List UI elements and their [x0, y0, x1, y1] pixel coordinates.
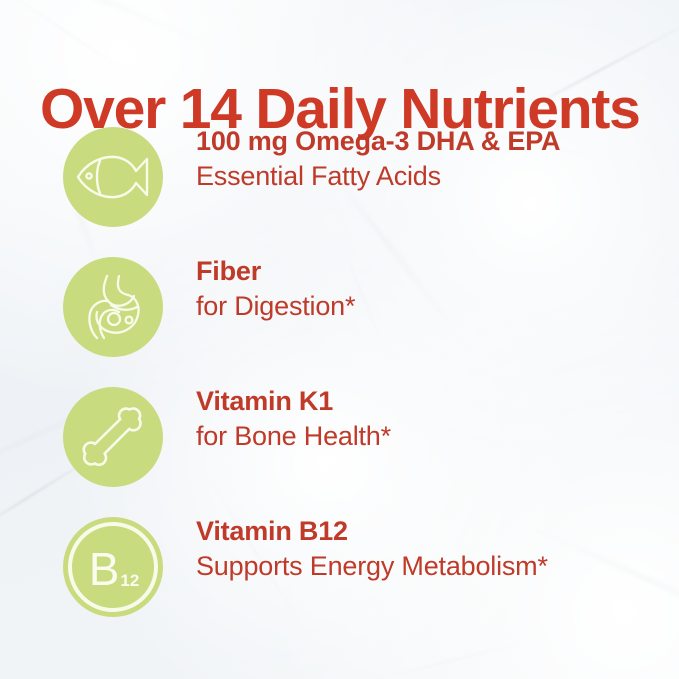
list-item: B 12 Vitamin B12 Supports Energy Metabol…: [0, 517, 679, 647]
list-item-title: Vitamin K1: [196, 384, 666, 419]
list-item-text: Fiber for Digestion*: [196, 254, 666, 323]
list-item-subtitle: Essential Fatty Acids: [196, 159, 666, 194]
list-item: Fiber for Digestion*: [0, 257, 679, 387]
nutrient-benefits-poster: Over 14 Daily Nutrients 100 mg Omega-3 D…: [0, 0, 679, 679]
stomach-icon-badge: [63, 257, 163, 357]
list-item-subtitle: Supports Energy Metabolism*: [196, 549, 666, 584]
bone-icon-badge: [63, 387, 163, 487]
bone-icon: [77, 401, 149, 473]
fish-icon-badge: [63, 127, 163, 227]
list-item-title: Vitamin B12: [196, 514, 666, 549]
list-item-text: Vitamin K1 for Bone Health*: [196, 384, 666, 453]
list-item-title: Fiber: [196, 254, 666, 289]
list-item-title: 100 mg Omega-3 DHA & EPA: [196, 124, 666, 159]
list-item: Vitamin K1 for Bone Health*: [0, 387, 679, 517]
list-item-text: Vitamin B12 Supports Energy Metabolism*: [196, 514, 666, 583]
nutrient-list: 100 mg Omega-3 DHA & EPA Essential Fatty…: [0, 127, 679, 647]
list-item-subtitle: for Bone Health*: [196, 419, 666, 454]
fish-icon: [74, 149, 152, 205]
stomach-icon: [78, 272, 148, 342]
list-item: 100 mg Omega-3 DHA & EPA Essential Fatty…: [0, 127, 679, 257]
vitamin-b12-icon: B 12: [88, 544, 139, 590]
b12-glyph: B 12: [89, 546, 140, 592]
b12-subscript: 12: [120, 572, 139, 589]
vitamin-b12-icon-badge: B 12: [63, 517, 163, 617]
list-item-text: 100 mg Omega-3 DHA & EPA Essential Fatty…: [196, 124, 666, 193]
b12-letter: B: [89, 546, 120, 592]
list-item-subtitle: for Digestion*: [196, 289, 666, 324]
